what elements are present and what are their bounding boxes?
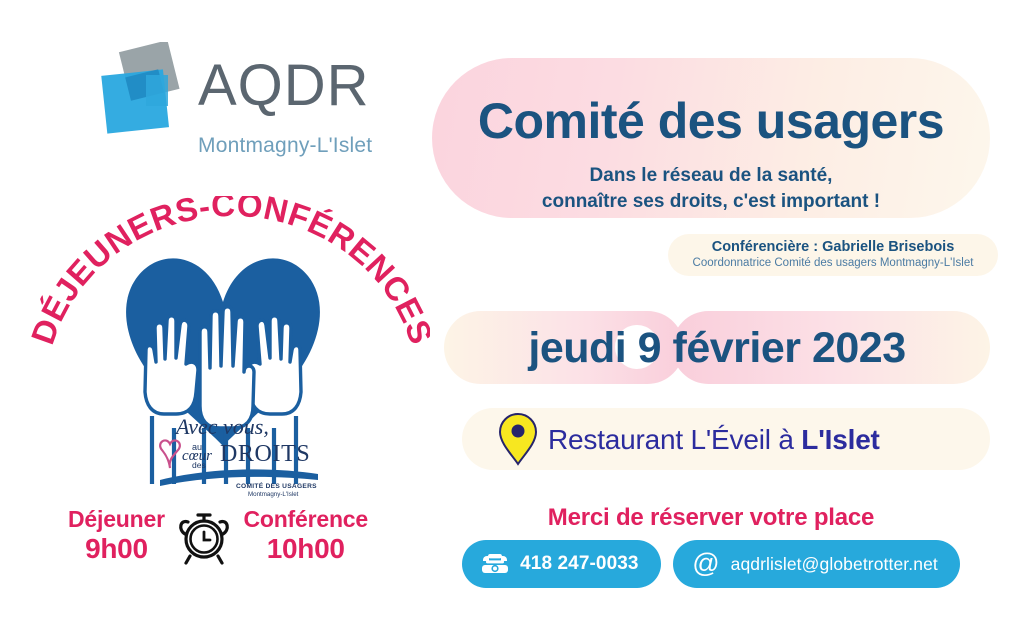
page-subtitle-line1: Dans le réseau de la santé, (590, 165, 833, 186)
location-city: L'Islet (801, 424, 879, 455)
location-text: Restaurant L'Éveil à L'Islet (548, 424, 880, 456)
aqdr-logo-subtitle: Montmagny-L'Islet (198, 134, 372, 158)
breakfast-time-block: Déjeuner 9h00 (68, 507, 165, 564)
at-sign-icon: @ (691, 549, 721, 579)
conference-label: Conférence (243, 507, 368, 533)
avec-vous-droits: DROITS (220, 441, 310, 467)
contact-row: 418 247-0033 @ aqdrlislet@globetrotter.n… (432, 540, 990, 588)
avec-vous-heart-icon (160, 440, 180, 468)
breakfast-time: 9h00 (68, 533, 165, 564)
avec-vous-line1: Avec vous, (174, 414, 269, 439)
comite-location-label: Montmagny-L'Islet (248, 491, 299, 498)
speaker-name: Conférencière : Gabrielle Brisebois (668, 239, 998, 255)
poster-canvas: AQDR Montmagny-L'Islet DÉJEUNERS-CONFÉRE… (0, 0, 1024, 622)
page-title: Comité des usagers (432, 92, 990, 150)
reservation-prompt: Merci de réserver votre place (432, 504, 990, 532)
email-contact-button[interactable]: @ aqdrlislet@globetrotter.net (673, 540, 960, 588)
avec-vous-au-coeur-des-droits-logo: Avec vous, au cœur des DROITS COMITÉ DES… (148, 408, 328, 498)
avec-vous-des: des (192, 460, 206, 470)
page-subtitle: Dans le réseau de la santé, connaître se… (432, 163, 990, 215)
alarm-clock-icon (176, 506, 232, 566)
speaker-role: Coordonnatrice Comité des usagers Montma… (658, 257, 1008, 269)
map-pin-icon (498, 412, 538, 466)
phone-contact-button[interactable]: 418 247-0033 (462, 540, 660, 588)
aqdr-wordmark: AQDR (198, 52, 370, 119)
conference-time: 10h00 (243, 533, 368, 564)
schedule-row: Déjeuner 9h00 Conférence 10h00 (68, 500, 368, 572)
email-address: aqdrlislet@globetrotter.net (731, 554, 938, 575)
event-date: jeudi 9 février 2023 (444, 324, 990, 373)
comite-des-usagers-label: COMITÉ DES USAGERS (236, 481, 317, 490)
location-venue: Restaurant L'Éveil à (548, 424, 801, 455)
svg-text:@: @ (692, 549, 719, 578)
breakfast-label: Déjeuner (68, 507, 165, 533)
telephone-icon (480, 552, 510, 576)
aqdr-logo-squares-icon (100, 42, 196, 138)
phone-number: 418 247-0033 (520, 553, 638, 575)
conference-time-block: Conférence 10h00 (243, 507, 368, 564)
page-subtitle-line2: connaître ses droits, c'est important ! (542, 191, 880, 212)
